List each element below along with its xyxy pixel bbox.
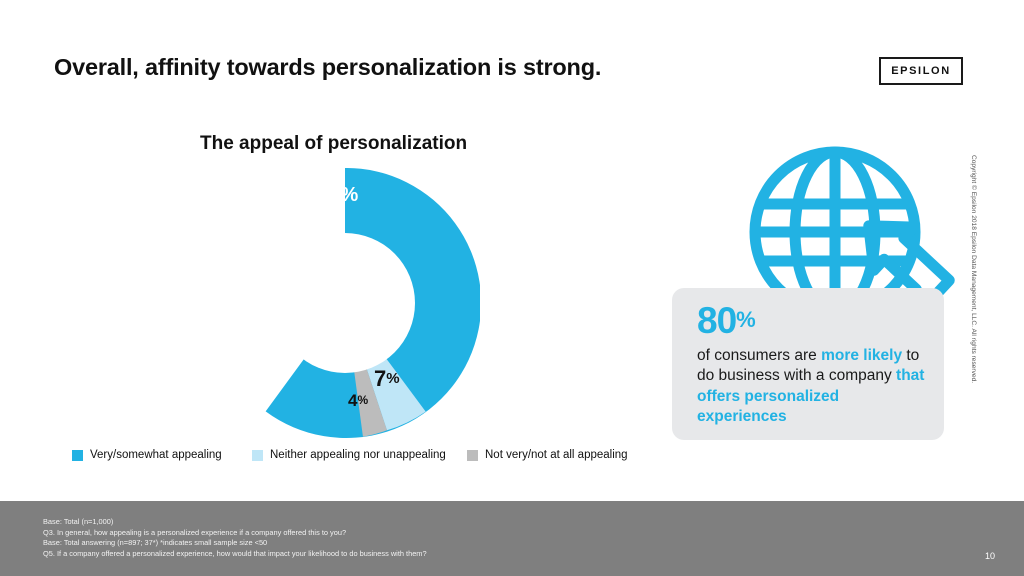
stat-number-value: 80: [697, 300, 736, 341]
stat-card: 80% of consumers are more likely to do b…: [672, 288, 944, 440]
footnote-line: Base: Total (n=1,000): [43, 517, 427, 528]
footnote-line: Q5. If a company offered a personalized …: [43, 549, 427, 560]
legend-item-not-very-not-at-all-appealing[interactable]: Not very/not at all appealing: [467, 449, 628, 461]
donut-label-7-value: 7: [374, 366, 386, 391]
stat-text-plain-1: of consumers are: [697, 347, 821, 364]
footnote-line: Base: Total answering (n=897; 37*) *indi…: [43, 538, 427, 549]
donut-label-7: 7%: [374, 366, 400, 392]
stat-text-highlight-2: likely: [863, 347, 902, 364]
donut-label-90: 90%: [306, 177, 358, 213]
legend-item-neither-appealing-nor-unappealing[interactable]: Neither appealing nor unappealing: [252, 449, 446, 461]
footnotes: Base: Total (n=1,000) Q3. In general, ho…: [43, 517, 427, 559]
legend-swatch-icon: [252, 450, 263, 461]
legend-swatch-icon: [72, 450, 83, 461]
legend-label: Neither appealing nor unappealing: [270, 449, 446, 461]
stat-text-highlight-1: more: [821, 347, 859, 364]
copyright-notice: Copyright © Epsilon 2018 Epsilon Data Ma…: [970, 155, 977, 385]
legend-swatch-icon: [467, 450, 478, 461]
legend-label: Very/somewhat appealing: [90, 449, 222, 461]
logo-text: EPSILON: [891, 65, 951, 77]
donut-label-4-percent-sign: %: [357, 393, 368, 407]
legend-item-very-somewhat-appealing[interactable]: Very/somewhat appealing: [72, 449, 222, 461]
page-title: Overall, affinity towards personalizatio…: [54, 54, 601, 81]
stat-card-content: 80% of consumers are more likely to do b…: [697, 302, 929, 428]
footnote-line: Q3. In general, how appealing is a perso…: [43, 528, 427, 539]
slide-canvas: Overall, affinity towards personalizatio…: [0, 0, 1024, 576]
stat-description: of consumers are more likely to do busin…: [697, 346, 929, 428]
stat-number-percent-sign: %: [736, 307, 756, 332]
donut-label-4: 4%: [348, 391, 368, 411]
stat-text-plain-3: a company: [816, 367, 896, 384]
donut-label-90-percent-sign: %: [340, 184, 358, 206]
page-number: 10: [985, 551, 995, 561]
stat-number: 80%: [697, 302, 929, 341]
epsilon-logo: EPSILON: [879, 57, 963, 85]
donut-label-90-value: 90: [306, 177, 340, 212]
chart-legend: Very/somewhat appealing Neither appealin…: [72, 449, 652, 465]
donut-label-7-percent-sign: %: [386, 370, 399, 387]
legend-label: Not very/not at all appealing: [485, 449, 628, 461]
donut-hole: [275, 233, 415, 373]
chart-title: The appeal of personalization: [200, 133, 467, 155]
